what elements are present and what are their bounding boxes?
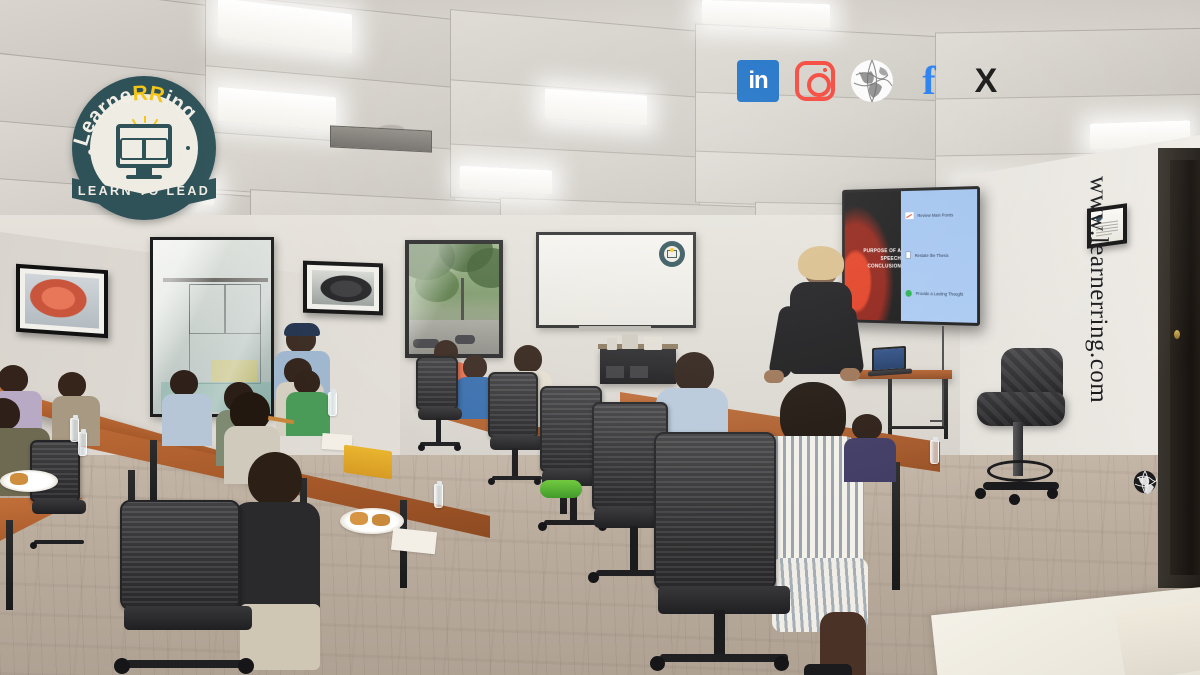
head bbox=[58, 372, 86, 398]
water-bottle[interactable] bbox=[434, 484, 443, 508]
person-left-edge-4 bbox=[160, 370, 212, 438]
tv-power-cord bbox=[930, 420, 944, 422]
chair-seat[interactable] bbox=[32, 500, 86, 514]
globe-icon[interactable] bbox=[849, 58, 895, 104]
shoe bbox=[804, 664, 852, 675]
stool-wheel bbox=[1047, 488, 1058, 499]
chair-wheel bbox=[454, 444, 461, 451]
head bbox=[170, 370, 198, 396]
chart-icon bbox=[906, 212, 914, 219]
slide-bullet: Provide a Lasting Thought bbox=[906, 290, 964, 298]
slide-bullet: Review Main Points bbox=[906, 211, 954, 219]
office-chair[interactable] bbox=[416, 356, 468, 466]
x-twitter-icon[interactable]: X bbox=[963, 58, 1009, 104]
globe-icon-small bbox=[1133, 470, 1157, 494]
supply-container bbox=[622, 334, 638, 349]
chair-back[interactable] bbox=[416, 356, 458, 410]
door-handle[interactable] bbox=[1174, 330, 1180, 339]
helicopter-image bbox=[25, 273, 99, 328]
instagram-icon[interactable] bbox=[792, 58, 838, 104]
food-item bbox=[10, 473, 28, 485]
food-item bbox=[372, 514, 390, 526]
social-icons-row: in f X bbox=[735, 58, 1009, 104]
baseball-cap bbox=[284, 323, 320, 336]
head bbox=[674, 352, 714, 392]
book-right-page bbox=[144, 138, 168, 160]
supply-cup bbox=[607, 338, 617, 350]
presenter-hand-left bbox=[764, 370, 784, 383]
chair-wheel bbox=[418, 444, 425, 451]
presenter-hand-right bbox=[840, 368, 860, 381]
chair-post bbox=[630, 526, 638, 572]
chair-base bbox=[660, 654, 788, 662]
head bbox=[248, 452, 302, 506]
logo-brand-part2: RR bbox=[132, 82, 167, 108]
head-with-locs bbox=[230, 392, 270, 430]
slide-bullet: Restate the Thesis bbox=[906, 251, 949, 259]
water-bottle[interactable] bbox=[930, 440, 939, 464]
food-item bbox=[350, 512, 368, 525]
chair-post bbox=[714, 610, 725, 656]
framed-aircraft-photo bbox=[303, 261, 383, 316]
facebook-icon[interactable]: f bbox=[906, 58, 952, 104]
chair-post bbox=[436, 418, 441, 444]
classroom-photo: PURPOSE OF A SPEECH CONCLUSION Review Ma… bbox=[0, 0, 1200, 675]
ceiling-light-panel bbox=[702, 0, 830, 28]
chair-base bbox=[126, 660, 250, 668]
picture-mat bbox=[307, 265, 379, 312]
logo-tagline: LEARN TO LEAD bbox=[64, 184, 224, 198]
chair-wheel bbox=[238, 658, 254, 674]
chair-back[interactable] bbox=[488, 372, 538, 438]
water-bottle[interactable] bbox=[78, 432, 87, 456]
whiteboard-logo-sticker bbox=[659, 241, 685, 267]
chair-wheel bbox=[30, 542, 37, 549]
slide-bullet-text: Restate the Thesis bbox=[915, 253, 949, 258]
marker-tray bbox=[579, 326, 651, 331]
supply-container bbox=[644, 337, 662, 350]
chair-wheel bbox=[114, 658, 130, 674]
chair-wheel bbox=[650, 656, 665, 671]
globe-glyph bbox=[850, 59, 894, 103]
head bbox=[294, 370, 320, 394]
head bbox=[852, 414, 882, 440]
x-glyph: X bbox=[975, 62, 998, 101]
chair-base bbox=[34, 540, 84, 544]
head bbox=[0, 398, 20, 430]
picture-mat bbox=[20, 268, 104, 334]
desk-crossbar bbox=[888, 426, 946, 429]
chair-wheel bbox=[588, 572, 599, 583]
stool-seat[interactable] bbox=[977, 392, 1065, 426]
door[interactable] bbox=[1170, 160, 1200, 575]
slide-bullet-text: Provide a Lasting Thought bbox=[916, 291, 964, 297]
instagram-glyph bbox=[795, 61, 835, 101]
slide-bullet-text: Review Main Points bbox=[917, 212, 953, 218]
glass-reflection bbox=[409, 244, 499, 354]
stool-wheel bbox=[975, 488, 986, 499]
aircraft-image bbox=[312, 270, 374, 306]
person-back-right-1 bbox=[844, 414, 896, 474]
linkedin-icon[interactable]: in bbox=[735, 58, 781, 104]
drafting-stool[interactable] bbox=[975, 348, 1071, 528]
presenter bbox=[778, 250, 864, 400]
office-chair-foreground[interactable] bbox=[654, 432, 806, 672]
chair-post bbox=[512, 448, 518, 478]
table-leg bbox=[6, 520, 13, 610]
ceiling-light-panel bbox=[460, 166, 552, 195]
network-node-icon bbox=[88, 142, 106, 162]
stool-wheel bbox=[1009, 494, 1020, 505]
head bbox=[0, 365, 28, 393]
slide-right-panel: Review Main Points Restate the Thesis Pr… bbox=[901, 189, 977, 323]
green-shoes bbox=[540, 480, 582, 498]
head bbox=[514, 345, 542, 373]
stool-footring bbox=[987, 460, 1053, 482]
facebook-glyph: f bbox=[922, 63, 935, 99]
website-url: www.learnerring.com bbox=[1084, 176, 1112, 506]
food-plate bbox=[0, 470, 58, 492]
chair-back[interactable] bbox=[654, 432, 776, 590]
learnerring-logo: LearneRRing bbox=[64, 76, 224, 231]
book-left-page bbox=[120, 138, 144, 160]
napkin bbox=[391, 528, 437, 554]
torso bbox=[844, 438, 896, 482]
document-icon bbox=[906, 251, 911, 259]
desk-leg bbox=[944, 379, 948, 439]
chair-seat[interactable] bbox=[124, 606, 252, 630]
chair-wheel bbox=[538, 522, 547, 531]
chair-back[interactable] bbox=[120, 500, 240, 610]
water-bottle[interactable] bbox=[328, 392, 337, 416]
whiteboard bbox=[536, 232, 696, 328]
linkedin-glyph: in bbox=[737, 60, 779, 102]
framed-helicopter-photo bbox=[16, 264, 108, 338]
torso bbox=[286, 392, 330, 436]
green-dot-icon bbox=[906, 290, 912, 297]
office-chair-left-row[interactable] bbox=[30, 440, 92, 560]
presenter-hair bbox=[798, 246, 844, 280]
chair-wheel bbox=[488, 478, 495, 485]
chair-wheel bbox=[774, 656, 789, 671]
office-chair-foreground-left[interactable] bbox=[120, 500, 270, 675]
torso bbox=[162, 394, 212, 446]
